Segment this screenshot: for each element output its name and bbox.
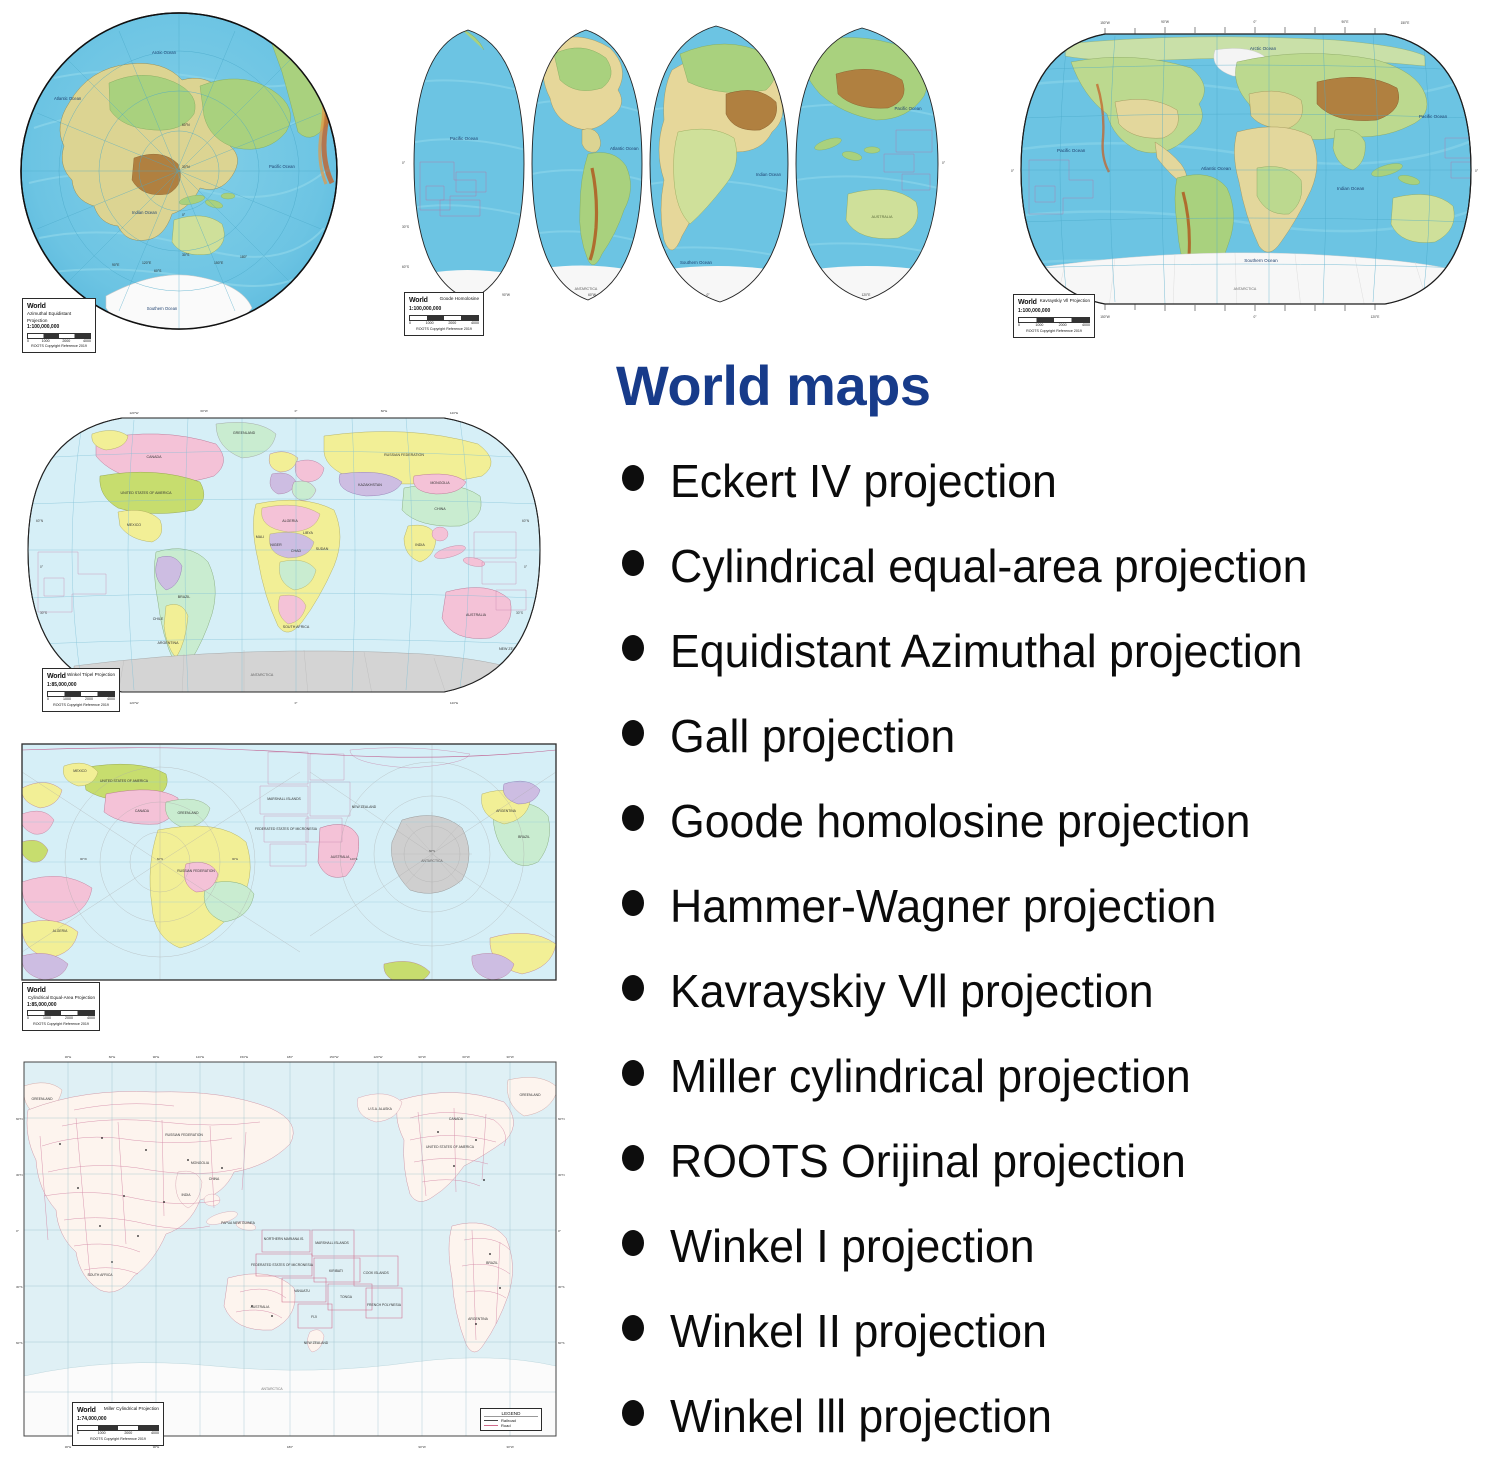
svg-text:Arctic Ocean: Arctic Ocean: [1250, 46, 1277, 51]
legend-scale: 1:74,000,000: [77, 1416, 159, 1423]
legend-projection: Cylindrical Equal-Area Projection: [28, 995, 95, 1001]
winkel-oval-svg: Arctic Ocean Pacific Ocean Atlantic Ocea…: [1005, 10, 1485, 330]
svg-text:PAPUA NEW GUINEA: PAPUA NEW GUINEA: [221, 1221, 256, 1225]
svg-text:0°: 0°: [1011, 169, 1015, 173]
legend-title: World: [409, 297, 428, 304]
svg-text:AUSTRALIA: AUSTRALIA: [871, 215, 893, 219]
legend-credit: ROOTS Copyright Reference 2019: [47, 703, 115, 708]
svg-text:TONGA: TONGA: [340, 1295, 353, 1299]
svg-text:60°S: 60°S: [558, 1341, 565, 1345]
svg-text:30°E: 30°E: [65, 1445, 72, 1449]
legend-box: WorldWinkel Tripel Projection 1:85,000,0…: [42, 668, 120, 712]
svg-text:SUDAN: SUDAN: [316, 547, 329, 551]
legend-projection: Kavrayskiy Vll Projection: [1040, 298, 1090, 304]
railroad-swatch: [484, 1420, 498, 1421]
projection-label: Miller cylindrical projection: [670, 1053, 1191, 1099]
bullet-icon: [622, 1315, 644, 1341]
projection-label: Cylindrical equal-area projection: [670, 543, 1307, 589]
svg-text:60°W: 60°W: [200, 409, 208, 413]
svg-text:Pacific Ocean: Pacific Ocean: [1057, 148, 1086, 153]
svg-text:Indian Ocean: Indian Ocean: [1337, 186, 1365, 191]
svg-text:KAZAKHSTAN: KAZAKHSTAN: [358, 483, 382, 487]
svg-text:VANUATU: VANUATU: [294, 1289, 310, 1293]
legend-box: WorldKavrayskiy Vll Projection 1:100,000…: [1013, 294, 1095, 338]
scale-bar-ticks: 0100020004000: [47, 697, 115, 702]
svg-text:90°E: 90°E: [112, 263, 120, 267]
legend-lines-title: LEGEND: [484, 1411, 538, 1417]
bullet-icon: [622, 720, 644, 746]
svg-text:MONGOLIA: MONGOLIA: [191, 1161, 210, 1165]
ocean-label: Atlantic Ocean: [54, 96, 82, 101]
svg-text:150°W: 150°W: [1100, 21, 1110, 25]
list-item[interactable]: ROOTS Orijinal projection: [608, 1138, 1500, 1223]
projection-label: Gall projection: [670, 713, 955, 759]
svg-text:CHAD: CHAD: [291, 549, 302, 553]
scale-bar-ticks: 0100020004000: [77, 1431, 159, 1436]
svg-text:ARGENTINA: ARGENTINA: [158, 641, 180, 645]
svg-text:ALGERIA: ALGERIA: [282, 519, 298, 523]
svg-text:60°N: 60°N: [522, 519, 530, 523]
scale-bar-ticks: 0100020004000: [1018, 323, 1090, 328]
bullet-icon: [622, 975, 644, 1001]
svg-text:150°W: 150°W: [1100, 315, 1110, 319]
svg-text:GREENLAND: GREENLAND: [519, 1093, 541, 1097]
svg-text:MALI: MALI: [256, 535, 264, 539]
svg-text:0°: 0°: [1253, 315, 1257, 319]
svg-text:U.S.A. ALASKA: U.S.A. ALASKA: [368, 1107, 392, 1111]
svg-text:FRENCH POLYNESIA: FRENCH POLYNESIA: [367, 1303, 402, 1307]
svg-text:90°E: 90°E: [1342, 20, 1349, 24]
svg-text:NEW ZEALAND: NEW ZEALAND: [304, 1341, 329, 1345]
svg-text:FEDERATED STATES OF MICRONESIA: FEDERATED STATES OF MICRONESIA: [251, 1263, 314, 1267]
svg-text:Atlantic Ocean: Atlantic Ocean: [1201, 166, 1231, 171]
svg-text:60°E: 60°E: [109, 1055, 116, 1059]
projection-label: Goode homolosine projection: [670, 798, 1250, 844]
svg-text:COOK ISLANDS: COOK ISLANDS: [363, 1271, 389, 1275]
svg-text:30°N: 30°N: [16, 1173, 23, 1177]
svg-text:90°W: 90°W: [418, 1445, 426, 1449]
svg-text:INDIA: INDIA: [415, 543, 425, 547]
map-eckert-political[interactable]: CANADA UNITED STATES OF AMERICA GREENLAN…: [4, 400, 564, 718]
legend-scale: 1:100,000,000: [409, 306, 479, 313]
svg-text:0°: 0°: [1253, 20, 1257, 24]
legend-projection: Goode Homolosine: [440, 296, 479, 302]
legend-credit: ROOTS Copyright Reference 2019: [1018, 329, 1090, 334]
svg-text:MONGOLIA: MONGOLIA: [430, 481, 450, 485]
text-column: World maps Eckert IV projection Cylindri…: [608, 358, 1500, 1478]
list-item[interactable]: Hammer-Wagner projection: [608, 883, 1500, 968]
svg-text:UNITED STATES OF AMERICA: UNITED STATES OF AMERICA: [426, 1145, 475, 1149]
legend-projection: Azimuthal Equidistant Projection: [27, 311, 91, 323]
list-item[interactable]: Miller cylindrical projection: [608, 1053, 1500, 1138]
legend-box: WorldCylindrical Equal-Area Projection 1…: [22, 982, 100, 1031]
svg-text:60°E: 60°E: [381, 409, 388, 413]
svg-text:60°S: 60°S: [16, 1341, 23, 1345]
list-item[interactable]: Goode homolosine projection: [608, 798, 1500, 883]
svg-text:60°S: 60°S: [429, 849, 435, 853]
list-item[interactable]: Eckert IV projection: [608, 458, 1500, 543]
svg-text:AUSTRALIA: AUSTRALIA: [331, 855, 351, 859]
svg-text:60°N: 60°N: [157, 857, 163, 861]
svg-text:LIBYA: LIBYA: [303, 531, 314, 535]
svg-text:180°: 180°: [287, 1445, 294, 1449]
svg-text:90°E: 90°E: [232, 857, 238, 861]
svg-text:BRAZIL: BRAZIL: [178, 595, 191, 599]
legend-credit: ROOTS Copyright Reference 2019: [27, 1022, 95, 1027]
svg-text:150°E: 150°E: [240, 1055, 248, 1059]
svg-text:60°N: 60°N: [182, 123, 190, 127]
svg-text:0°: 0°: [295, 409, 299, 413]
scale-bar-ticks: 0100020004000: [27, 1016, 95, 1021]
svg-text:60°N: 60°N: [558, 1117, 565, 1121]
svg-text:ARGENTINA: ARGENTINA: [468, 1317, 489, 1321]
svg-text:Pacific Ocean: Pacific Ocean: [450, 136, 479, 141]
svg-text:ARGENTINA: ARGENTINA: [496, 809, 517, 813]
list-item[interactable]: Gall projection: [608, 713, 1500, 798]
svg-text:60°W: 60°W: [462, 1055, 470, 1059]
svg-text:BRAZIL: BRAZIL: [518, 835, 530, 839]
legend-credit: ROOTS Copyright Reference 2019: [27, 344, 91, 349]
svg-text:RUSSIAN FEDERATION: RUSSIAN FEDERATION: [165, 1133, 203, 1137]
projection-label: ROOTS Orijinal projection: [670, 1138, 1186, 1184]
ocean-label: Arctic Ocean: [152, 50, 177, 55]
svg-text:30°N: 30°N: [182, 165, 190, 169]
svg-text:Pacific Ocean: Pacific Ocean: [1419, 114, 1448, 119]
svg-text:SOUTH AFRICA: SOUTH AFRICA: [283, 625, 310, 629]
projection-label: Eckert IV projection: [670, 458, 1057, 504]
ocean-label: Pacific Ocean: [269, 164, 296, 169]
svg-text:30°S: 30°S: [558, 1285, 565, 1289]
bullet-icon: [622, 1060, 644, 1086]
legend-title: World: [47, 673, 66, 680]
svg-text:CHILE: CHILE: [153, 617, 164, 621]
svg-text:30°S: 30°S: [16, 1285, 23, 1289]
svg-text:MARSHALL ISLANDS: MARSHALL ISLANDS: [267, 797, 301, 801]
svg-text:Pacific Ocean: Pacific Ocean: [894, 106, 922, 111]
svg-text:60°N: 60°N: [36, 519, 44, 523]
goode-homolosine-svg: Pacific Ocean Atlantic Ocean ANTARCTICA: [396, 14, 956, 324]
svg-text:GREENLAND: GREENLAND: [233, 431, 256, 435]
svg-text:90°W: 90°W: [80, 857, 87, 861]
svg-text:CHINA: CHINA: [209, 1177, 220, 1181]
svg-text:150°E: 150°E: [1401, 21, 1410, 25]
projection-label: Winkel II projection: [670, 1308, 1047, 1354]
svg-text:60°S: 60°S: [154, 269, 162, 273]
svg-text:ANTARCTICA: ANTARCTICA: [421, 859, 443, 863]
svg-text:BRAZIL: BRAZIL: [486, 1261, 498, 1265]
list-item[interactable]: Winkel lll projection: [608, 1393, 1500, 1478]
legend-title: World: [27, 987, 46, 994]
legend-box: WorldGoode Homolosine 1:100,000,000 0100…: [404, 292, 484, 336]
svg-text:CANADA: CANADA: [135, 809, 150, 813]
svg-text:90°W: 90°W: [418, 1055, 426, 1059]
svg-text:Atlantic Ocean: Atlantic Ocean: [610, 146, 639, 151]
svg-text:60°S: 60°S: [402, 265, 409, 269]
list-item[interactable]: Winkel I projection: [608, 1223, 1500, 1308]
svg-text:INDIA: INDIA: [181, 1193, 191, 1197]
svg-text:GREENLAND: GREENLAND: [177, 811, 199, 815]
scale-bar-ticks: 0100020004000: [27, 339, 91, 344]
svg-text:UNITED STATES OF AMERICA: UNITED STATES OF AMERICA: [121, 491, 173, 495]
list-item[interactable]: Kavrayskiy Vll projection: [608, 968, 1500, 1053]
legend-title: World: [1018, 299, 1037, 306]
projection-label: Equidistant Azimuthal projection: [670, 628, 1302, 674]
map-azimuthal-globe[interactable]: Arctic Ocean Atlantic Ocean Pacific Ocea…: [14, 8, 344, 338]
projection-label: Winkel I projection: [670, 1223, 1035, 1269]
map-miller-cylindrical[interactable]: RUSSIAN FEDERATION MONGOLIA CHINA INDIA …: [14, 1040, 566, 1460]
svg-text:AUSTRALIA: AUSTRALIA: [251, 1305, 271, 1309]
svg-text:30°W: 30°W: [506, 1055, 514, 1059]
svg-text:0°: 0°: [16, 1229, 20, 1233]
svg-text:150°W: 150°W: [329, 1055, 338, 1059]
svg-text:120°E: 120°E: [450, 411, 458, 415]
projection-label: Hammer-Wagner projection: [670, 883, 1216, 929]
svg-text:0°: 0°: [558, 1229, 562, 1233]
svg-text:CHINA: CHINA: [434, 507, 446, 511]
svg-text:Southern Ocean: Southern Ocean: [680, 260, 713, 265]
miller-cylindrical-svg: RUSSIAN FEDERATION MONGOLIA CHINA INDIA …: [14, 1040, 566, 1460]
svg-text:Indian Ocean: Indian Ocean: [756, 172, 782, 177]
svg-text:NEW ZEALAND: NEW ZEALAND: [352, 805, 377, 809]
svg-text:Southern Ocean: Southern Ocean: [1244, 258, 1278, 263]
ocean-label: Southern Ocean: [147, 306, 178, 311]
legend-credit: ROOTS Copyright Reference 2019: [409, 327, 479, 332]
legend-entry-label: Road: [501, 1423, 511, 1428]
projection-list: Eckert IV projection Cylindrical equal-a…: [608, 458, 1500, 1478]
svg-text:UNITED STATES OF AMERICA: UNITED STATES OF AMERICA: [100, 779, 149, 783]
svg-text:120°W: 120°W: [373, 1055, 382, 1059]
svg-text:NEW ZEALAND: NEW ZEALAND: [499, 647, 525, 651]
bullet-icon: [622, 550, 644, 576]
svg-text:120°E: 120°E: [350, 857, 358, 861]
svg-text:0°: 0°: [402, 161, 406, 165]
svg-text:120°W: 120°W: [129, 701, 138, 705]
svg-text:90°W: 90°W: [1161, 20, 1169, 24]
svg-text:CANADA: CANADA: [449, 1117, 464, 1121]
svg-text:AUSTRALIA: AUSTRALIA: [466, 613, 487, 617]
svg-text:ANTARCTICA: ANTARCTICA: [261, 1387, 283, 1391]
map-cylindrical-equal-area[interactable]: UNITED STATES OF AMERICA CANADA GREENLAN…: [20, 742, 558, 982]
svg-text:MARSHALL ISLANDS: MARSHALL ISLANDS: [315, 1241, 349, 1245]
svg-text:120°E: 120°E: [862, 293, 871, 297]
svg-text:30°E: 30°E: [65, 1055, 72, 1059]
svg-text:RUSSIAN FEDERATION: RUSSIAN FEDERATION: [177, 869, 215, 873]
bullet-icon: [622, 635, 644, 661]
svg-text:KIRIBATI: KIRIBATI: [329, 1269, 343, 1273]
legend-projection: Miller Cylindrical Projection: [104, 1406, 159, 1412]
svg-text:60°W: 60°W: [588, 293, 596, 297]
bullet-icon: [622, 465, 644, 491]
svg-text:30°S: 30°S: [40, 611, 47, 615]
legend-credit: ROOTS Copyright Reference 2019: [77, 1437, 159, 1442]
list-item[interactable]: Equidistant Azimuthal projection: [608, 628, 1500, 713]
svg-text:NIGER: NIGER: [270, 543, 282, 547]
projection-label: Kavrayskiy Vll projection: [670, 968, 1154, 1014]
page-title: World maps: [616, 358, 1500, 414]
svg-text:90°W: 90°W: [502, 293, 510, 297]
list-item[interactable]: Winkel II projection: [608, 1308, 1500, 1393]
legend-scale: 1:100,000,000: [1018, 308, 1090, 315]
legend-title: World: [77, 1407, 96, 1414]
svg-text:0°: 0°: [942, 161, 946, 165]
map-winkel-oval[interactable]: Arctic Ocean Pacific Ocean Atlantic Ocea…: [1005, 10, 1485, 330]
svg-text:MEXICO: MEXICO: [127, 523, 141, 527]
svg-text:ANTARCTICA: ANTARCTICA: [1234, 287, 1257, 291]
svg-text:30°S: 30°S: [402, 225, 409, 229]
svg-text:120°E: 120°E: [142, 261, 152, 265]
svg-text:60°N: 60°N: [16, 1117, 23, 1121]
svg-text:0°: 0°: [1475, 169, 1479, 173]
legend-scale: 1:85,000,000: [47, 682, 115, 689]
svg-text:90°E: 90°E: [153, 1055, 160, 1059]
svg-text:180°: 180°: [240, 255, 248, 259]
svg-text:150°E: 150°E: [214, 261, 224, 265]
svg-text:ALGERIA: ALGERIA: [53, 929, 68, 933]
ocean-label: Indian Ocean: [132, 210, 158, 215]
cylindrical-equal-area-svg: UNITED STATES OF AMERICA CANADA GREENLAN…: [20, 742, 558, 982]
projection-label: Winkel lll projection: [670, 1393, 1052, 1439]
bullet-icon: [622, 890, 644, 916]
svg-text:FEDERATED STATES OF MICRONESIA: FEDERATED STATES OF MICRONESIA: [255, 827, 318, 831]
road-swatch: [484, 1425, 498, 1426]
svg-text:120°E: 120°E: [450, 701, 458, 705]
legend-title: World: [27, 303, 46, 310]
svg-text:30°W: 30°W: [506, 1445, 514, 1449]
svg-text:GREENLAND: GREENLAND: [31, 1097, 53, 1101]
legend-projection: Winkel Tripel Projection: [67, 672, 115, 678]
svg-text:30°S: 30°S: [182, 253, 190, 257]
svg-text:ANTARCTICA: ANTARCTICA: [575, 287, 598, 291]
bullet-icon: [622, 805, 644, 831]
svg-text:0°: 0°: [295, 701, 299, 705]
svg-text:SOUTH AFRICA: SOUTH AFRICA: [87, 1273, 113, 1277]
svg-text:CANADA: CANADA: [147, 455, 163, 459]
legend-lines-box: LEGEND Railroad Road: [480, 1408, 542, 1431]
scale-bar-ticks: 0100020004000: [409, 321, 479, 326]
svg-text:RUSSIAN FEDERATION: RUSSIAN FEDERATION: [384, 453, 424, 457]
list-item[interactable]: Cylindrical equal-area projection: [608, 543, 1500, 628]
svg-text:120°E: 120°E: [196, 1055, 204, 1059]
map-goode-homolosine[interactable]: Pacific Ocean Atlantic Ocean ANTARCTICA: [396, 14, 956, 324]
bullet-icon: [622, 1230, 644, 1256]
legend-box: WorldMiller Cylindrical Projection 1:74,…: [72, 1402, 164, 1446]
svg-text:ANTARCTICA: ANTARCTICA: [251, 673, 274, 677]
legend-box: WorldAzimuthal Equidistant Projection 1:…: [22, 298, 96, 353]
svg-text:FIJI: FIJI: [311, 1315, 317, 1319]
svg-text:120°W: 120°W: [129, 411, 138, 415]
bullet-icon: [622, 1400, 644, 1426]
bullet-icon: [622, 1145, 644, 1171]
svg-text:MEXICO: MEXICO: [73, 769, 87, 773]
svg-text:30°N: 30°N: [558, 1173, 565, 1177]
azimuthal-globe-svg: Arctic Ocean Atlantic Ocean Pacific Ocea…: [14, 8, 344, 338]
svg-text:30°S: 30°S: [516, 611, 523, 615]
legend-entry-road: Road: [484, 1423, 538, 1428]
svg-text:NORTHERN MARIANA IS.: NORTHERN MARIANA IS.: [264, 1237, 304, 1241]
svg-text:120°E: 120°E: [1371, 315, 1380, 319]
svg-text:180°: 180°: [287, 1055, 294, 1059]
